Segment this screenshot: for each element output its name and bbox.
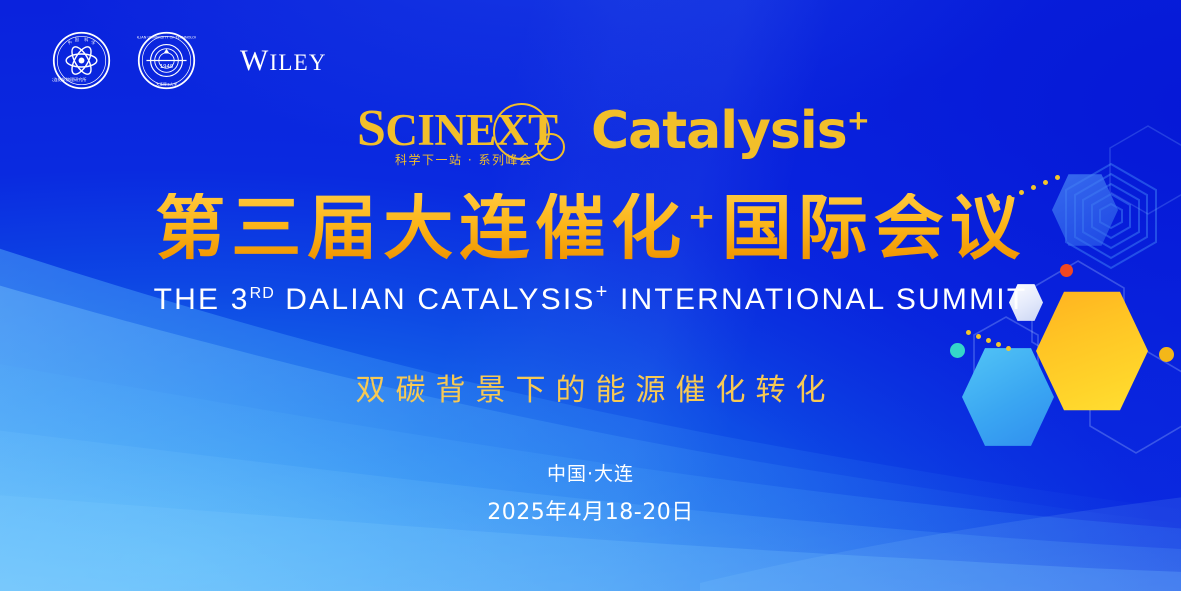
- teal-dot: [950, 343, 965, 358]
- scinext-wordmark: SCINEXT: [357, 103, 557, 155]
- catalysis-superscript-plus: +: [847, 104, 869, 137]
- partner-logos: 中国 科学 大连化学物理研究所 1949 DALIAN UNIVERSITY O…: [52, 31, 327, 90]
- svg-text:大连理工大学: 大连理工大学: [156, 81, 178, 86]
- wiley-logo: WILEY: [240, 44, 327, 78]
- page-title-english-plus: +: [596, 281, 610, 303]
- catalysis-plus-logo: Catalysis+: [591, 105, 869, 157]
- page-title-english: THE 3RD DALIAN CATALYSIS+ INTERNATIONAL …: [0, 281, 1181, 317]
- svg-text:1949: 1949: [160, 64, 173, 70]
- dotted-line-gold-lower: [966, 330, 1026, 360]
- brand-row: SCINEXT 科学下一站 · 系列峰会 Catalysis+: [0, 101, 1181, 173]
- scinext-lead-letter: S: [357, 100, 385, 157]
- svg-text:国: 国: [75, 36, 79, 42]
- conference-banner: 中国 科学 大连化学物理研究所 1949 DALIAN UNIVERSITY O…: [0, 0, 1181, 591]
- wiley-logo-lead: W: [240, 44, 270, 77]
- page-title-english-part3: INTERNATIONAL SUMMIT: [609, 283, 1027, 316]
- svg-text:DALIAN UNIVERSITY OF TECHNOLOG: DALIAN UNIVERSITY OF TECHNOLOGY: [137, 36, 196, 40]
- page-title-chinese-plus: +: [687, 197, 722, 237]
- event-location: 中国·大连: [0, 459, 1181, 486]
- scinext-subtitle: 科学下一站 · 系列峰会: [395, 151, 532, 168]
- scinext-logo: SCINEXT 科学下一站 · 系列峰会: [357, 101, 572, 171]
- conference-theme: 双碳背景下的能源催化转化: [0, 365, 1181, 409]
- page-title-english-part2: DALIAN CATALYSIS: [275, 283, 596, 316]
- dicp-seal-logo: 中国 科学 大连化学物理研究所: [52, 31, 111, 90]
- dut-seal-logo: 1949 DALIAN UNIVERSITY OF TECHNOLOGY 大连理…: [137, 31, 196, 90]
- scinext-rest-letters: CINEXT: [385, 105, 557, 155]
- svg-text:科: 科: [84, 36, 88, 42]
- svg-text:大连化学物理研究所: 大连化学物理研究所: [52, 76, 86, 82]
- catalysis-wordmark: Catalysis: [591, 101, 847, 161]
- page-title-chinese-part1: 第三届大连催化: [155, 187, 687, 269]
- svg-text:中: 中: [68, 39, 72, 45]
- gold-dot: [1159, 347, 1174, 362]
- event-date: 2025年4月18-20日: [0, 494, 1181, 526]
- red-dot: [1060, 264, 1073, 277]
- page-title-chinese-part2: 国际会议: [722, 187, 1026, 269]
- page-title-english-part1: THE 3: [154, 283, 250, 316]
- page-title-english-ordinal: RD: [250, 285, 275, 302]
- page-title-chinese: 第三届大连催化+国际会议: [0, 193, 1181, 263]
- svg-text:学: 学: [91, 39, 95, 45]
- wiley-logo-rest: ILEY: [270, 50, 327, 75]
